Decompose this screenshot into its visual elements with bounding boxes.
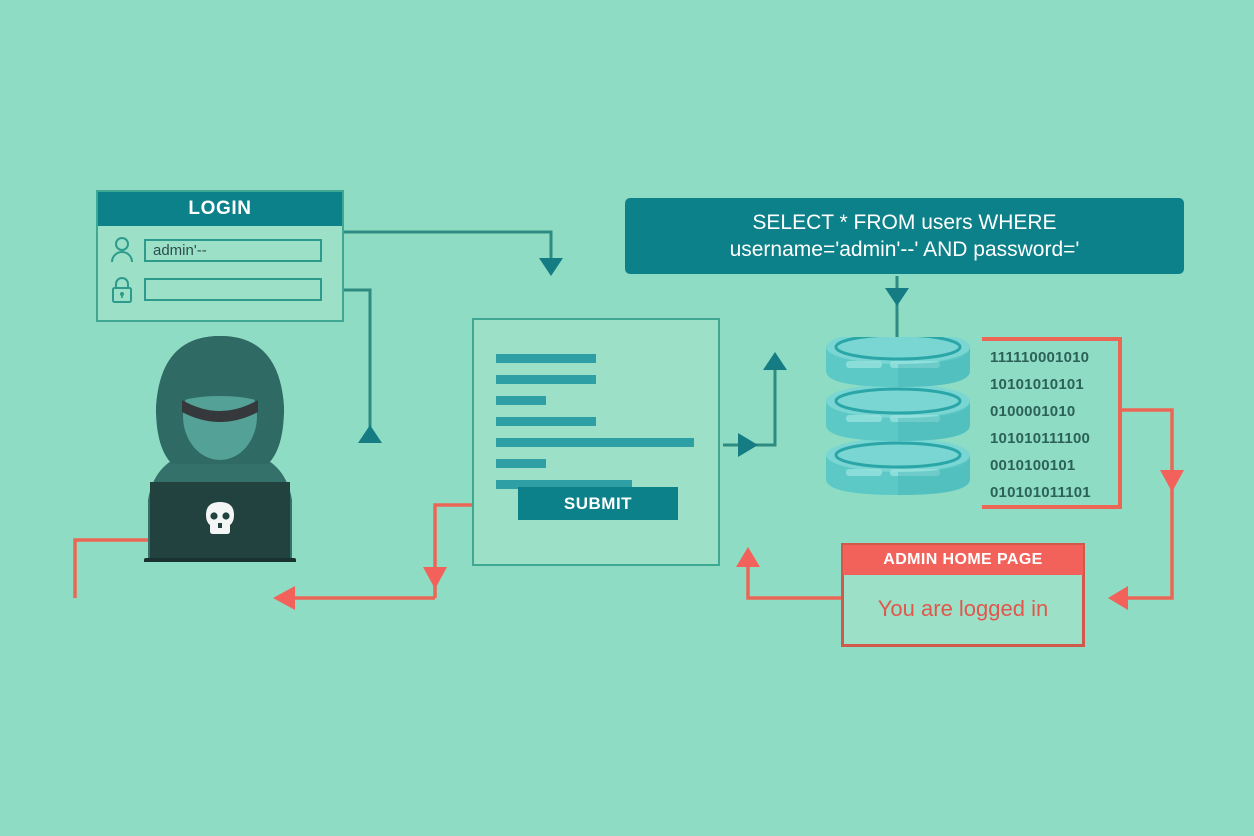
form-line bbox=[496, 354, 596, 363]
password-input[interactable] bbox=[144, 278, 322, 301]
admin-page-title: ADMIN HOME PAGE bbox=[843, 545, 1083, 575]
username-input[interactable]: admin'-- bbox=[144, 239, 322, 262]
skull-icon bbox=[206, 502, 234, 534]
sql-query-line-1: SELECT * FROM users WHERE bbox=[730, 209, 1080, 236]
web-form-document: SUBMIT bbox=[472, 318, 720, 566]
lock-icon bbox=[108, 274, 136, 304]
login-panel: LOGIN admin'-- bbox=[96, 190, 344, 322]
admin-home-page: ADMIN HOME PAGE You are logged in bbox=[841, 543, 1085, 647]
binary-row: 111110001010 bbox=[990, 344, 1118, 371]
password-row bbox=[108, 274, 342, 304]
login-panel-title: LOGIN bbox=[98, 192, 342, 226]
line-form-down bbox=[435, 505, 472, 598]
arrowhead-down-from-form bbox=[423, 567, 447, 589]
form-line bbox=[496, 375, 596, 384]
hacker-figure bbox=[108, 330, 332, 562]
submit-button[interactable]: SUBMIT bbox=[518, 487, 678, 520]
binary-row: 0010100101 bbox=[990, 452, 1118, 479]
user-icon bbox=[108, 235, 136, 265]
arrowhead-down-right bbox=[1160, 470, 1184, 492]
sql-query-box: SELECT * FROM users WHERE username='admi… bbox=[625, 198, 1184, 274]
form-line bbox=[496, 459, 546, 468]
arrowhead-up-to-form bbox=[736, 547, 760, 567]
line-db-to-admin bbox=[1122, 410, 1172, 598]
arrowhead-to-hacker-left bbox=[273, 586, 295, 610]
line-admin-to-form bbox=[748, 567, 841, 598]
binary-row: 0100001010 bbox=[990, 398, 1118, 425]
database-cylinder bbox=[818, 337, 978, 509]
form-text-lines bbox=[474, 320, 718, 489]
sql-query-line-2: username='admin'--' AND password=' bbox=[730, 236, 1080, 263]
form-line bbox=[496, 417, 596, 426]
binary-row: 10101010101 bbox=[990, 371, 1118, 398]
sql-injection-diagram: LOGIN admin'-- SELECT * FROM users WHERE… bbox=[0, 0, 1254, 836]
admin-page-message: You are logged in bbox=[844, 575, 1082, 643]
binary-row: 101010111100 bbox=[990, 425, 1118, 452]
arrowhead-to-admin bbox=[1108, 586, 1128, 610]
form-line bbox=[496, 396, 546, 405]
binary-row: 010101011101 bbox=[990, 479, 1118, 506]
form-line bbox=[496, 438, 694, 447]
binary-data-block: 111110001010 10101010101 0100001010 1010… bbox=[982, 337, 1122, 509]
username-row: admin'-- bbox=[108, 235, 342, 265]
